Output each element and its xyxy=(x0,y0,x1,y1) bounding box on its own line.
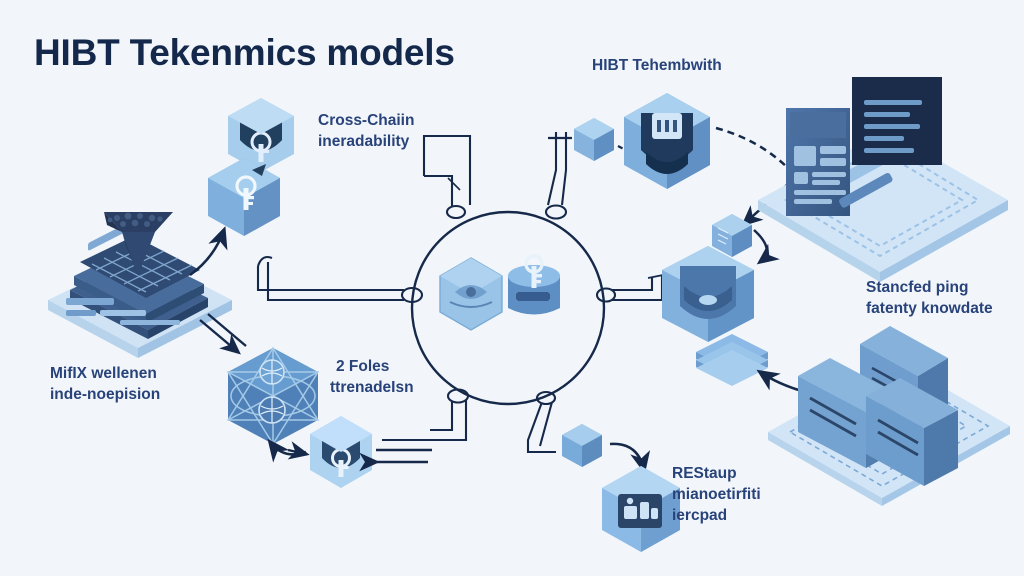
label-line: Stancfed ping xyxy=(866,277,993,298)
label-line: ineradability xyxy=(318,131,414,152)
page-title: HIBT Tekenmics models xyxy=(34,32,455,74)
label-line: iercpad xyxy=(672,505,761,526)
label-line: inde-noepision xyxy=(50,384,160,405)
label-line: Cross-Chaiin xyxy=(318,110,414,131)
label-cross-chain: Cross-Chaiin ineradability xyxy=(318,110,414,152)
label-stancfed-ping: Stancfed ping fatenty knowdate xyxy=(866,277,993,319)
label-line: fatenty knowdate xyxy=(866,298,993,319)
label-line: mianoetirfiti xyxy=(672,484,761,505)
label-line: ttrenadeIsn xyxy=(330,377,414,398)
label-foles-trenadeisn: 2 Foles ttrenadeIsn xyxy=(330,356,414,398)
label-hibt-tehembwith: HIBT Tehembwith xyxy=(592,55,722,76)
diagram-canvas: HIBT Tekenmics models Cross-Chaiin inera… xyxy=(0,0,1024,576)
label-line: 2 Foles xyxy=(336,356,414,377)
label-restaup: REStaup mianoetirfiti iercpad xyxy=(672,463,761,526)
label-line: REStaup xyxy=(672,463,761,484)
label-line: MifIX wellenen xyxy=(50,363,160,384)
label-line: HIBT Tehembwith xyxy=(592,55,722,76)
label-mifix-wellenen: MifIX wellenen inde-noepision xyxy=(50,363,160,405)
